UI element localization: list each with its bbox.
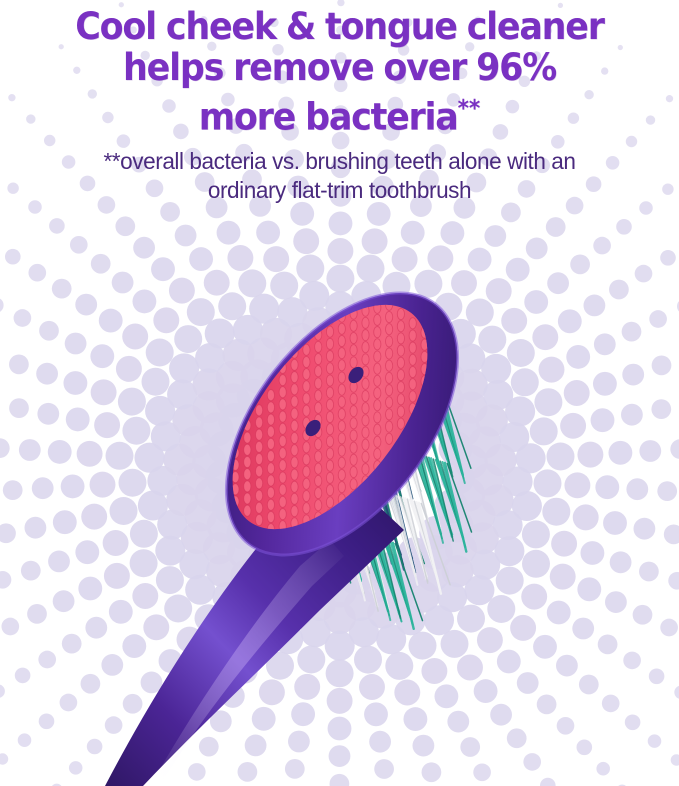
pad-nub [338,287,345,298]
headline-line-2: helps remove over 96% [123,45,556,89]
pad-nub [303,405,310,416]
headline-line-3: more bacteria [199,95,458,139]
pad-nub [386,336,393,347]
pad-nub [326,436,333,447]
pad-nub [397,321,404,332]
pad-nub [315,439,322,450]
pad-nub [267,487,274,498]
pad-nub [397,333,404,344]
pad-nub [303,381,310,392]
pad-nub [338,421,345,432]
pad-nub [279,448,286,459]
pad-nub [350,430,357,441]
pad-nub [291,372,298,383]
footnote-marker: ** [458,95,481,122]
pad-nub [256,478,263,489]
pad-nub [338,348,345,359]
pad-nub [326,326,333,337]
pad-nub [244,481,251,492]
pad-nub [256,405,263,416]
pad-nub [409,354,416,365]
pad-nub [374,375,381,386]
pad-nub [244,456,251,467]
pad-nub [409,318,416,329]
pad-nub [244,432,251,443]
pad-nub [208,465,215,476]
pad-nub [326,363,333,374]
pad-nub [362,403,369,414]
pad-nub [374,448,381,459]
pad-nub [362,464,369,475]
pad-nub [220,450,227,461]
pad-nub [267,438,274,449]
pad-nub [362,390,369,401]
pad-nub [338,323,345,334]
pad-nub [397,308,404,319]
pad-nub [409,366,416,377]
pad-nub [362,439,369,450]
pad-nub [279,435,286,446]
pad-nub [397,357,404,368]
pad-nub [291,457,298,468]
pad-nub [386,409,393,420]
pad-nub [386,397,393,408]
footnote-line-2: ordinary flat-trim toothbrush [208,177,471,203]
pad-nub [362,415,369,426]
pad-nub [291,408,298,419]
pad-nub [291,493,298,504]
pad-nub [291,469,298,480]
footnote-line-1: **overall bacteria vs. brushing teeth al… [103,148,575,174]
pad-nub [279,375,286,386]
pad-nub [374,339,381,350]
pad-nub [315,475,322,486]
pad-nub [244,493,251,504]
pad-nub [279,472,286,483]
pad-nub [256,453,263,464]
pad-nub [386,311,393,322]
pad-nub [338,372,345,383]
pad-nub [267,499,274,510]
pad-nub [220,462,227,473]
pad-nub [279,411,286,422]
pad-nub [374,412,381,423]
pad-nub [244,469,251,480]
pad-nub [350,406,357,417]
pad-nub [256,429,263,440]
pad-nub [267,463,274,474]
pad-nub [244,444,251,455]
pad-nub [409,342,416,353]
pad-nub [256,490,263,501]
pad-nub [326,387,333,398]
pad-nub [350,345,357,356]
pad-nub [409,391,416,402]
pad-nub [326,485,333,496]
pad-nub [291,432,298,443]
pad-nub [303,490,310,501]
pad-nub [279,484,286,495]
pad-nub [315,390,322,401]
pad-nub [208,477,215,488]
pad-nub [267,451,274,462]
pad-nub [338,409,345,420]
pad-nub [267,414,274,425]
pad-nub [362,451,369,462]
pad-nub [338,469,345,480]
pad-nub [326,424,333,435]
pad-nub [326,302,333,313]
pad-nub [291,359,298,370]
pad-nub [338,482,345,493]
pad-nub [315,402,322,413]
pad-nub [326,472,333,483]
pad-nub [362,317,369,328]
pad-nub [362,342,369,353]
pad-nub [326,497,333,508]
pad-nub [362,378,369,389]
pad-nub [303,503,310,514]
pad-nub [315,500,322,511]
pad-nub [374,436,381,447]
pad-nub [291,445,298,456]
pad-nub [279,387,286,398]
pad-nub [374,424,381,435]
pad-nub [350,479,357,490]
pad-nub [291,384,298,395]
pad-nub [326,411,333,422]
pad-nub [279,460,286,471]
pad-nub [374,400,381,411]
pad-nub [279,508,286,519]
pad-nub [386,433,393,444]
pad-nub [350,442,357,453]
pad-nub [256,441,263,452]
pad-nub [397,394,404,405]
pad-nub [303,344,310,355]
pad-nub [350,357,357,368]
promo-text-block: Cool cheek & tongue cleaner helps remove… [0,0,679,205]
pad-nub [303,442,310,453]
pad-nub [338,396,345,407]
pad-nub [291,506,298,517]
pad-nub [338,433,345,444]
pad-nub [386,385,393,396]
pad-nub [303,356,310,367]
pad-nub [256,417,263,428]
pad-nub [386,348,393,359]
pad-nub [350,393,357,404]
pad-nub [303,478,310,489]
pad-nub [350,272,357,283]
pad-nub [350,454,357,465]
pad-nub [374,363,381,374]
pad-nub [244,505,251,516]
footnote-text: **overall bacteria vs. brushing teeth al… [14,147,666,205]
pad-nub [397,382,404,393]
pad-nub [279,399,286,410]
pad-nub [362,427,369,438]
pad-nub [338,445,345,456]
pad-nub [303,369,310,380]
pad-nub [350,466,357,477]
pad-nub [315,366,322,377]
pad-nub [362,281,369,292]
page-title: Cool cheek & tongue cleaner helps remove… [24,0,655,138]
pad-nub [326,460,333,471]
pad-nub [350,284,357,295]
pad-nub [291,420,298,431]
pad-nub [303,454,310,465]
pad-nub [256,466,263,477]
pad-nub [267,511,274,522]
pad-nub [386,421,393,432]
pad-nub [374,314,381,325]
pad-nub [338,384,345,395]
pad-nub [362,354,369,365]
pad-nub [397,406,404,417]
pad-nub [386,360,393,371]
pad-nub [386,372,393,383]
pad-nub [315,463,322,474]
pad-nub [326,399,333,410]
pad-nub [303,466,310,477]
pad-nub [267,475,274,486]
pad-nub [338,335,345,346]
pad-nub [326,375,333,386]
pad-nub [315,378,322,389]
pad-nub [255,514,262,525]
pad-nub [350,320,357,331]
pad-nub [326,338,333,349]
pad-nub [326,351,333,362]
pad-nub [315,451,322,462]
pad-nub [409,330,416,341]
pad-nub [397,345,404,356]
pad-nub [315,353,322,364]
pad-nub [374,327,381,338]
pad-nub [386,324,393,335]
pad-nub [374,387,381,398]
pad-nub [279,423,286,434]
pad-nub [326,448,333,459]
pad-nub [291,396,298,407]
pad-nub [397,418,404,429]
pad-nub [267,402,274,413]
pad-nub [256,502,263,513]
pad-nub [350,418,357,429]
pad-nub [315,487,322,498]
pad-nub [279,496,286,507]
pad-nub [291,481,298,492]
promo-image-canvas: Cool cheek & tongue cleaner helps remove… [0,0,679,786]
pad-nub [397,369,404,380]
pad-nub [303,393,310,404]
pad-nub [338,360,345,371]
pad-nub [267,426,274,437]
pad-nub [338,457,345,468]
pad-nub [409,379,416,390]
pad-nub [267,390,274,401]
pad-nub [315,341,322,352]
pad-nub [362,330,369,341]
pad-nub [350,332,357,343]
headline-line-1: Cool cheek & tongue cleaner [75,4,603,48]
pad-nub [374,351,381,362]
